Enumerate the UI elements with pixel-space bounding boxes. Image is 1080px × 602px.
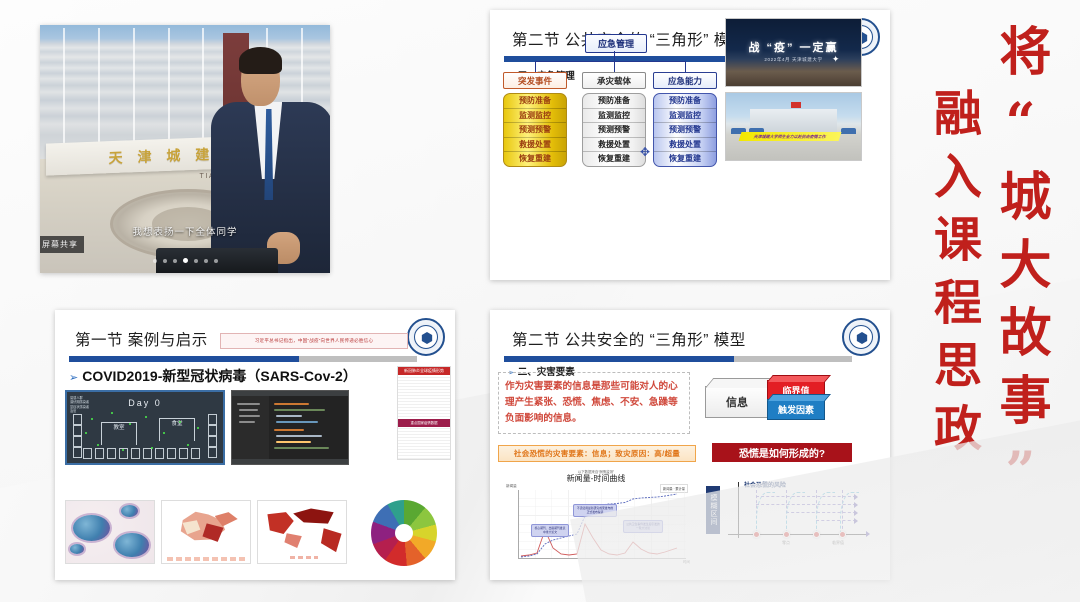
chart-x-label: 时间 xyxy=(683,560,690,565)
slide-hazard-elements[interactable]: 第二节 公共安全的 “三角形” 模型 ➢二、灾害要素 作为灾害要素的信息是那些可… xyxy=(490,310,890,580)
simulation-room-canteen: 食堂 xyxy=(159,418,195,441)
banner-hazard-summary: 社会恐慌的灾害要素：信息；致灾原因：高/超量 xyxy=(498,445,696,462)
code-editor-screenshot xyxy=(231,390,349,465)
university-emblem-icon xyxy=(842,318,880,356)
presentation-collage: 天 津 城 建 TIANJIN 我想表扬一下全体同学 屏幕共享 第二节 公共安全… xyxy=(0,0,1080,602)
thumbnail-title: 战 “疫” 一定赢 xyxy=(726,39,861,55)
cylinder-row: 救援处置 xyxy=(654,138,716,153)
video-pager-dots[interactable] xyxy=(40,258,330,263)
epidemic-news-panel: 新冠肺炎全球疫情形势 重点国家疫情数据 xyxy=(397,366,451,460)
box-face-trigger-factor: 触发因素 xyxy=(767,399,825,420)
chart-title: 社会恐慌的风险 xyxy=(744,480,786,489)
x-tick-label: 临界值 xyxy=(832,540,844,546)
diagram-connector xyxy=(535,61,685,62)
box-face-information: 信息 xyxy=(705,386,769,418)
cylinder-row: 监测监控 xyxy=(654,109,716,124)
x-axis-arrow-icon xyxy=(866,531,870,537)
title-rule-blue xyxy=(504,356,734,362)
virus-illustration xyxy=(65,500,155,564)
vertical-slogan: 将“城大故事” 融入课程思政 xyxy=(890,0,1080,602)
slide-title: 第一节 案例与启示 xyxy=(75,328,208,350)
sunburst-ring xyxy=(371,500,437,566)
slide-title: 第二节 公共安全的 “三角形” 模型 xyxy=(512,328,746,350)
simulation-screenshot: 易感人群 潜伏期感染者 显症状感染者 治愈 Day 0 教室 食堂 xyxy=(65,390,225,465)
bullet-arrow-icon: ➢ xyxy=(69,372,78,384)
x-tick-label: 零点 xyxy=(782,540,790,546)
data-point xyxy=(813,531,820,538)
cylinder-row: 监测监控 xyxy=(583,109,645,124)
diagram-column-capacity: 应急能力 预防准备 监测监控 预测预警 救援处置 恢复重建 xyxy=(653,72,717,167)
banner-question: 恐慌是如何形成的? xyxy=(712,443,852,462)
quote-callout: 习近平总书记指出，中国“战疫”向世界人民传递必胜信心 xyxy=(220,333,408,349)
thumbnail-fight-epidemic: 战 “疫” 一定赢 2022年4月 天津城建大学 ✦ xyxy=(725,18,862,87)
cylinder-row: 救援处置 xyxy=(504,138,566,153)
cylinder-row: 监测监控 xyxy=(504,109,566,124)
lecturer-figure xyxy=(208,45,330,273)
world-map xyxy=(257,500,347,564)
lecture-video-panel[interactable]: 天 津 城 建 TIANJIN 我想表扬一下全体同学 屏幕共享 xyxy=(40,25,330,273)
slide-heading: ➢COVID2019-新型冠状病毒（SARS-Cov-2） xyxy=(69,366,357,386)
information-box-diagram: 信息 临界值 触发因素 xyxy=(705,376,825,422)
diagram-connector xyxy=(614,51,615,61)
chart-x-axis xyxy=(728,534,868,535)
simulation-day-label: Day 0 xyxy=(67,398,223,408)
video-background: 天 津 城 建 TIANJIN 我想表扬一下全体同学 屏幕共享 xyxy=(40,25,330,273)
chart-callout: 不该使用最新研究成果发布的正式发布渠道 xyxy=(573,504,617,517)
diagram-root-node: 应急管理 xyxy=(585,34,647,53)
cylinder-row: 预测预警 xyxy=(504,123,566,138)
chart-title: 新闻量-时间曲线 xyxy=(498,473,694,484)
column-head: 突发事件 xyxy=(503,72,567,89)
china-map xyxy=(161,500,251,564)
chart-plot-area: 核心期刊、出版期刊发表中重大论文 不该使用最新研究成果发布的正式发布渠道 公共卫… xyxy=(518,490,686,559)
chart-callout: 公共卫生事件发生后引发的一轮大讨论 xyxy=(623,520,663,533)
column-cylinder: 预防准备 监测监控 预测预警 救援处置 恢复重建 xyxy=(582,93,646,167)
hazard-definition-text: 作为灾害要素的信息是那些可能对人的心理产生紧张、恐慌、焦虑、不安、急躁等负面影响… xyxy=(498,372,690,434)
data-point xyxy=(753,531,760,538)
diagram-column-carrier: 承灾载体 预防准备 监测监控 预测预警 救援处置 恢复重建 xyxy=(582,72,646,167)
title-rule-grey xyxy=(299,356,417,362)
chart-news-volume: 以下数据来自“舆情监测” 新闻量-时间曲线 新闻量 时间 新闻量 · 累计量 核… xyxy=(498,468,694,573)
cylinder-row: 预防准备 xyxy=(583,94,645,109)
cylinder-row: 预防准备 xyxy=(654,94,716,109)
simulation-room-classroom: 教室 xyxy=(101,422,137,445)
thumbnail-subtitle: 2022年4月 天津城建大学 xyxy=(726,57,861,63)
title-rule-grey xyxy=(734,356,852,362)
chart-y-axis xyxy=(738,482,739,538)
diagram-connector xyxy=(614,61,615,72)
column-cylinder: 预防准备 监测监控 预测预警 救援处置 恢复重建 xyxy=(653,93,717,167)
cylinder-row: 救援处置 xyxy=(583,138,645,153)
thumbnail-band-text: 天津城建大学师生全力以赴抗击疫情工作 xyxy=(738,132,841,141)
column-head: 承灾载体 xyxy=(582,72,646,89)
image-strip xyxy=(65,500,347,564)
chart-panic-risk: 模糊区间 社会恐慌的风险 零点 临界值 xyxy=(702,468,882,573)
chart-y-label: 新闻量 xyxy=(506,484,517,489)
slogan-column-right: 将“城大故事” xyxy=(983,24,1058,564)
cylinder-row: 预防准备 xyxy=(504,94,566,109)
cylinder-row: 预测预警 xyxy=(654,123,716,138)
column-cylinder: 预防准备 监测监控 预测预警 救援处置 恢复重建 xyxy=(503,93,567,167)
slide-emergency-management[interactable]: 第二节 公共安全的 “三角形” 模型 ➢五、应急管理 应急管理 突发事件 预防准… xyxy=(490,10,890,280)
diagram-column-event: 突发事件 预防准备 监测监控 预测预警 救援处置 恢复重建 xyxy=(503,72,567,167)
cylinder-row: 预测预警 xyxy=(583,123,645,138)
sparkle-icon: ✦ xyxy=(832,54,840,65)
slide-covid-case-study[interactable]: 第一节 案例与启示 习近平总书记指出，中国“战疫”向世界人民传递必胜信心 ➢CO… xyxy=(55,310,455,580)
screen-share-badge: 屏幕共享 xyxy=(40,236,84,253)
cylinder-row: 恢复重建 xyxy=(583,152,645,166)
chart-vertical-label: 模糊区间 xyxy=(706,486,720,534)
diagram-connector xyxy=(685,61,686,72)
slogan-column-left: 融入课程思政 xyxy=(918,88,988,558)
title-rule-blue xyxy=(69,356,299,362)
cylinder-row: 恢复重建 xyxy=(504,152,566,166)
diagram-connector xyxy=(535,61,536,72)
university-emblem-icon xyxy=(407,318,445,356)
news-panel-header: 新冠肺炎全球疫情形势 xyxy=(398,367,450,375)
thumbnail-campus-photo: 天津城建大学师生全力以赴抗击疫情工作 xyxy=(725,92,862,161)
cylinder-row: 恢复重建 xyxy=(654,152,716,166)
column-head: 应急能力 xyxy=(653,72,717,89)
diagram-join-icon: ✥ xyxy=(639,146,651,158)
data-point xyxy=(839,531,846,538)
flag-icon xyxy=(791,102,801,108)
news-panel-band: 重点国家疫情数据 xyxy=(398,419,450,427)
data-point xyxy=(783,531,790,538)
chart-callout: 核心期刊、出版期刊发表中重大论文 xyxy=(531,524,569,537)
sunburst-chart xyxy=(355,440,455,575)
